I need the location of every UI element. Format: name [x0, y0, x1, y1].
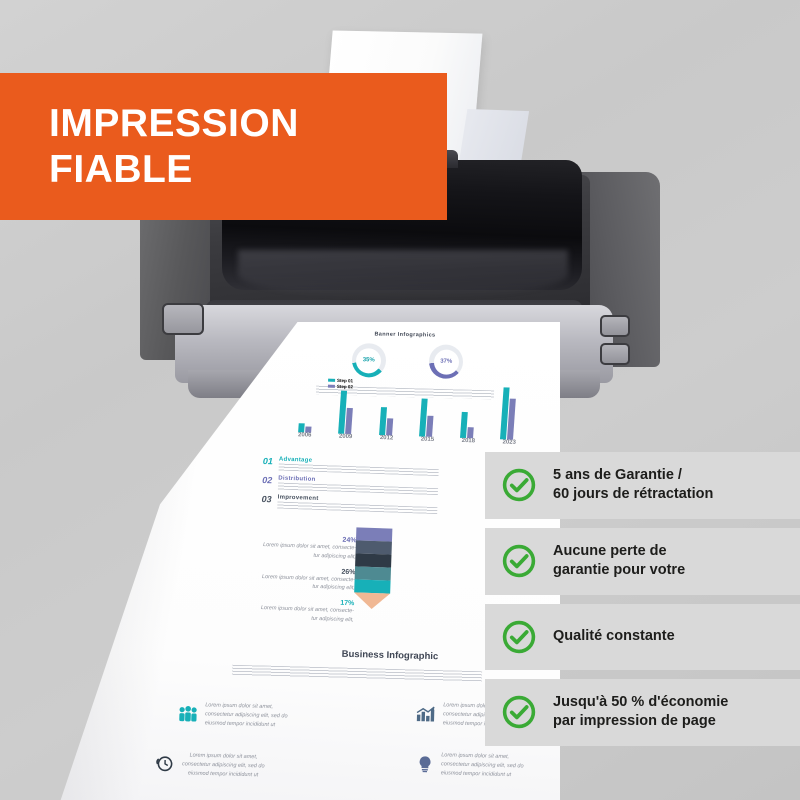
bar-step01-2006 — [298, 423, 305, 433]
pyramid-stat-2: 26% Lorem ipsum dolor sit amet, consecte… — [225, 564, 356, 593]
step-item-02: 02 Distribution — [262, 475, 492, 497]
pyramid-body-2: Lorem ipsum dolor sit amet, consecte- tu… — [225, 571, 356, 593]
x-tick-2012: 2012 — [380, 435, 394, 441]
feature-text-4: Jusqu'à 50 % d'économie par impression d… — [553, 693, 728, 732]
power-button[interactable] — [162, 303, 204, 335]
check-circle-icon — [501, 694, 537, 730]
feature-card-1[interactable]: 5 ans de Garantie / 60 jours de rétracta… — [485, 452, 800, 519]
step-number-01: 01 — [263, 456, 273, 466]
clock-icon — [155, 755, 175, 774]
headline-line-2: FIABLE — [49, 147, 447, 193]
feature-card-4[interactable]: Jusqu'à 50 % d'économie par impression d… — [485, 679, 800, 746]
donut-chart-group: 35% 37% — [330, 340, 486, 383]
pyramid-body-3: Lorem ipsum dolor sit amet, consecte- tu… — [224, 603, 355, 625]
control-button-2[interactable] — [600, 343, 630, 365]
feature-card-3[interactable]: Qualité constante — [485, 604, 800, 670]
pyramid-stat-1: 24% Lorem ipsum dolor sit amet, consecte… — [226, 533, 357, 562]
x-tick-2015: 2015 — [421, 436, 435, 442]
x-tick-2018: 2018 — [462, 438, 476, 444]
donut-chart-1-label: 35% — [363, 357, 375, 363]
bar-step02-2009 — [345, 408, 353, 434]
pyramid-stat-3: 17% Lorem ipsum dolor sit amet, consecte… — [224, 596, 355, 625]
icon-item-clock-text: Lorem ipsum dolor sit amet, consectetur … — [182, 751, 265, 780]
feature-check-4 — [501, 694, 537, 730]
x-tick-2009: 2009 — [339, 434, 353, 440]
check-circle-icon — [501, 467, 537, 503]
donut-chart-1: 35% — [351, 343, 386, 378]
check-circle-icon — [501, 619, 537, 655]
donut-chart-2-label: 37% — [440, 359, 452, 365]
icon-item-people: Lorem ipsum dolor sit amet, consectetur … — [178, 701, 288, 730]
bar-group-2006 — [298, 423, 312, 433]
feature-card-2[interactable]: Aucune perte de garantie pour votre — [485, 528, 800, 595]
feature-check-2 — [501, 543, 537, 579]
feature-check-3 — [501, 619, 537, 655]
donut-chart-2: 37% — [429, 344, 464, 379]
icon-item-people-text: Lorem ipsum dolor sit amet, consectetur … — [205, 701, 288, 730]
step-item-03: 03 Improvement — [261, 494, 491, 516]
lightbulb-icon — [416, 755, 434, 773]
promo-banner-image: Banner Infographics 35% 37% Step 01 Step… — [0, 0, 800, 800]
icon-item-lightbulb-text: Lorem ipsum dolor sit amet, consectetur … — [441, 751, 524, 780]
step-number-02: 02 — [262, 475, 272, 485]
pyramid-body-1: Lorem ipsum dolor sit amet, consecte- tu… — [226, 540, 357, 562]
control-button-1[interactable] — [600, 315, 630, 337]
bar-step02-2012 — [386, 418, 393, 435]
numbered-steps-list: 01 Advantage 02 Distribution 03 Improvem… — [261, 456, 493, 521]
feature-text-2: Aucune perte de garantie pour votre — [553, 542, 685, 581]
bar-chart — [298, 376, 517, 439]
icon-item-clock: Lorem ipsum dolor sit amet, consectetur … — [155, 751, 265, 780]
bar-step02-2018 — [467, 427, 474, 438]
x-tick-2023: 2023 — [502, 439, 516, 445]
bar-group-2009 — [338, 391, 354, 434]
headline-line-1: IMPRESSION — [49, 101, 447, 147]
feature-check-1 — [501, 467, 537, 503]
pyramid-stats-list: 24% Lorem ipsum dolor sit amet, consecte… — [223, 533, 356, 632]
bar-step02-2015 — [426, 415, 433, 437]
people-icon — [178, 706, 198, 723]
bar-group-2018 — [460, 412, 475, 439]
feature-text-3: Qualité constante — [553, 627, 675, 646]
step-number-03: 03 — [261, 494, 271, 504]
x-tick-2006: 2006 — [298, 432, 312, 438]
check-circle-icon — [501, 543, 537, 579]
bar-chart-icon — [416, 706, 436, 723]
icon-item-lightbulb: Lorem ipsum dolor sit amet, consectetur … — [416, 751, 524, 780]
feature-text-1: 5 ans de Garantie / 60 jours de rétracta… — [553, 466, 713, 505]
printer-lid-gloss — [238, 250, 568, 298]
headline-banner: IMPRESSION FIABLE — [0, 73, 447, 220]
bar-group-2015 — [419, 398, 435, 437]
bar-group-2012 — [379, 407, 394, 435]
feature-list: 5 ans de Garantie / 60 jours de rétracta… — [485, 452, 800, 755]
pencil-pyramid-graphic — [354, 527, 393, 609]
